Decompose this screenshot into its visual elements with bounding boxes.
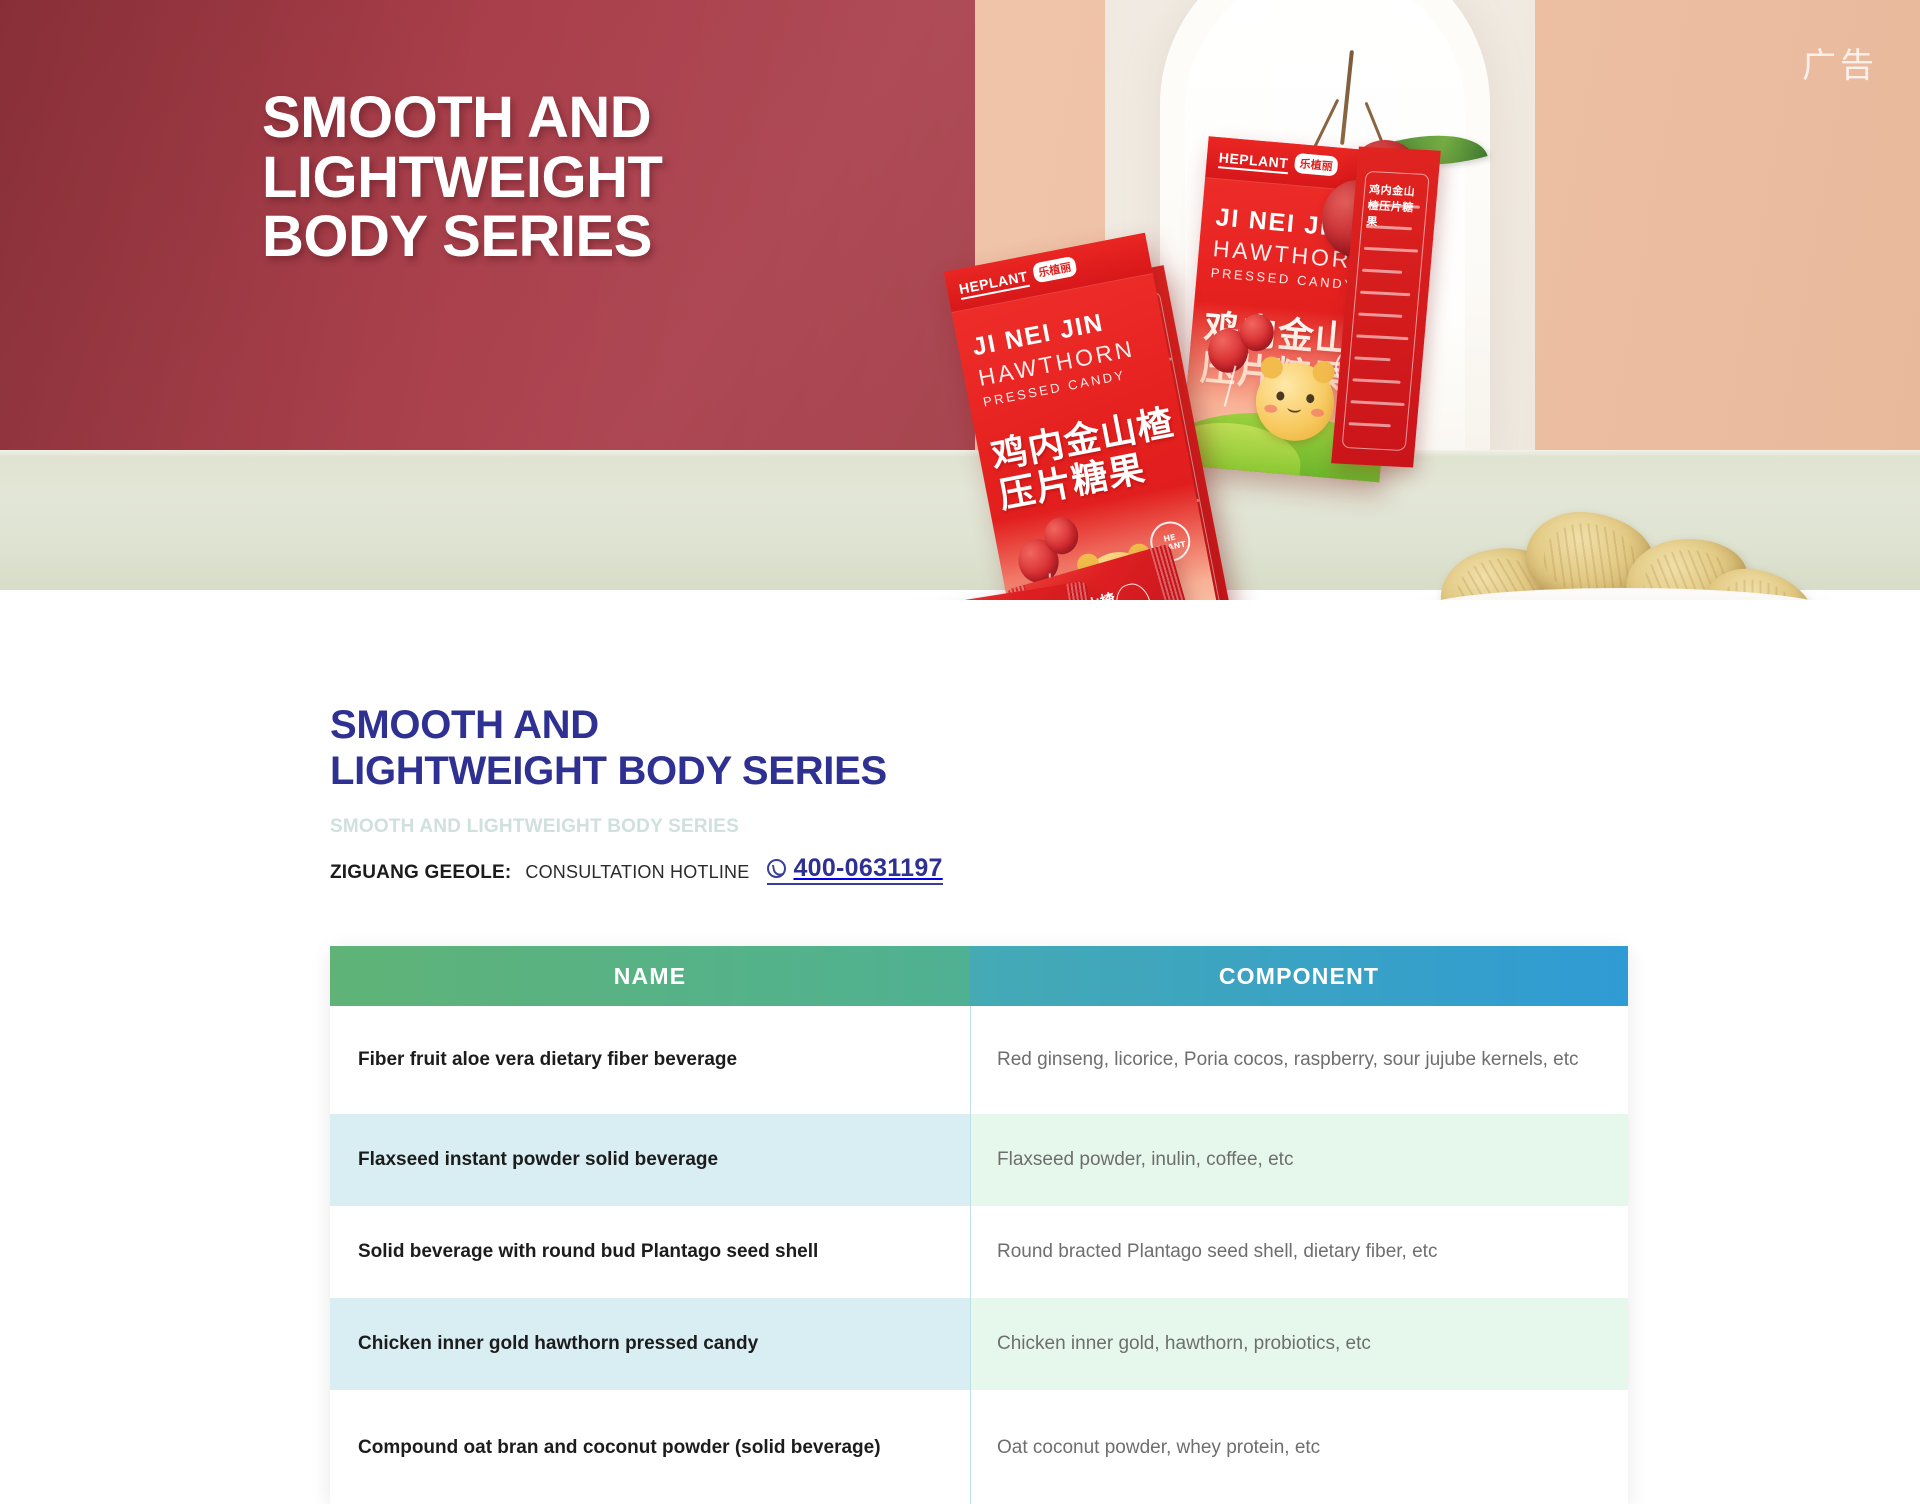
- table-header-component: COMPONENT: [970, 946, 1628, 1006]
- hotline-phone-link[interactable]: 400-0631197: [767, 855, 942, 885]
- dried-hawthorn-chips: [1430, 505, 1820, 600]
- table-cell-name: Chicken inner gold hawthorn pressed cand…: [330, 1298, 970, 1390]
- mascot-eye-right: [1306, 394, 1315, 404]
- mascot-ear-right: [1312, 360, 1336, 384]
- advertisement-page: 广告 SMOOTH AND LIGHTWEIGHT BODY SERIES HE…: [0, 0, 1920, 1504]
- contact-hotline-label: CONSULTATION HOTLINE: [525, 862, 749, 883]
- advertisement-badge: 广告: [1802, 38, 1878, 87]
- hero-title: SMOOTH AND LIGHTWEIGHT BODY SERIES: [262, 88, 922, 267]
- brand-logo: HEPLANT: [1218, 149, 1289, 174]
- table-cell-name: Compound oat bran and coconut powder (so…: [330, 1390, 970, 1504]
- mascot-eye-left: [1276, 391, 1285, 401]
- section-intro: SMOOTH AND LIGHTWEIGHT BODY SERIES SMOOT…: [0, 640, 1920, 900]
- table-row: Fiber fruit aloe vera dietary fiber beve…: [330, 1006, 1628, 1114]
- section-title-line-2: LIGHTWEIGHT BODY SERIES: [330, 748, 1090, 794]
- table-row: Chicken inner gold hawthorn pressed cand…: [330, 1298, 1628, 1390]
- table-cell-component: Flaxseed powder, inulin, coffee, etc: [970, 1114, 1628, 1206]
- table-header-row: NAME COMPONENT: [330, 946, 1628, 1006]
- section-subtitle: SMOOTH AND LIGHTWEIGHT BODY SERIES: [330, 816, 739, 838]
- table-cell-name: Flaxseed instant powder solid beverage: [330, 1114, 970, 1206]
- brand-logo-cn: 乐植丽: [1032, 256, 1078, 284]
- mascot-nose: [1287, 402, 1302, 413]
- hero-banner: 广告 SMOOTH AND LIGHTWEIGHT BODY SERIES HE…: [0, 0, 1920, 600]
- hero-title-line-2: LIGHTWEIGHT: [262, 148, 922, 208]
- table-cell-name: Solid beverage with round bud Plantago s…: [330, 1206, 970, 1298]
- table-cell-component: Round bracted Plantago seed shell, dieta…: [970, 1206, 1628, 1298]
- sachet-seal-icon: [1111, 580, 1154, 600]
- table-cell-component: Red ginseng, licorice, Poria cocos, rasp…: [970, 1006, 1628, 1114]
- brand-logo: HEPLANT: [958, 268, 1030, 300]
- table-cell-component: Chicken inner gold, hawthorn, probiotics…: [970, 1298, 1628, 1390]
- brand-logo-cn: 乐植丽: [1294, 153, 1339, 177]
- contact-brand-name: ZIGUANG GEEOLE:: [330, 862, 511, 884]
- contact-row: ZIGUANG GEEOLE: CONSULTATION HOTLINE 400…: [330, 855, 943, 885]
- table-cell-name: Fiber fruit aloe vera dietary fiber beve…: [330, 1006, 970, 1114]
- product-table: NAME COMPONENT Fiber fruit aloe vera die…: [330, 946, 1628, 1504]
- mascot-cheek-right: [1311, 408, 1325, 417]
- table-row: Compound oat bran and coconut powder (so…: [330, 1390, 1628, 1504]
- section-title-line-1: SMOOTH AND: [330, 702, 1090, 748]
- section-title: SMOOTH AND LIGHTWEIGHT BODY SERIES: [330, 702, 1090, 795]
- hero-title-line-1: SMOOTH AND: [262, 88, 922, 148]
- hero-title-line-3: BODY SERIES: [262, 207, 922, 267]
- mascot-cheek-left: [1264, 404, 1278, 413]
- table-row: Flaxseed instant powder solid beverage F…: [330, 1114, 1628, 1206]
- table-cell-component: Oat coconut powder, whey protein, etc: [970, 1390, 1628, 1504]
- mascot-ear-left: [1260, 356, 1284, 380]
- hotline-phone-number: 400-0631197: [793, 857, 942, 880]
- hero-counter-edge: [0, 450, 1920, 457]
- table-row: Solid beverage with round bud Plantago s…: [330, 1206, 1628, 1298]
- phone-icon: [767, 859, 786, 878]
- table-header-name: NAME: [330, 946, 970, 1006]
